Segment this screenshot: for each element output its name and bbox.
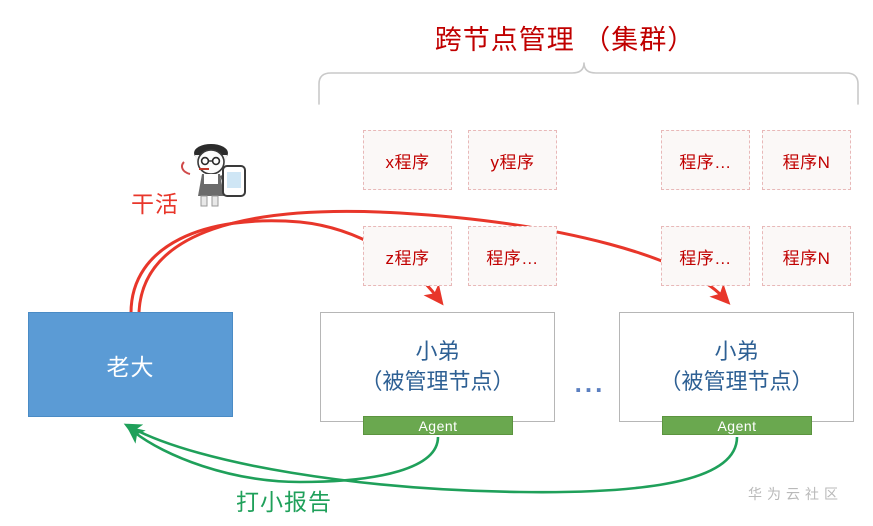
cluster-brace xyxy=(319,63,858,104)
arrow-report-from-node-2 xyxy=(132,428,737,492)
arrow-report-from-node-1 xyxy=(134,432,438,482)
agent-bar-label-2: Agent xyxy=(717,418,756,434)
watermark: 华为云社区 xyxy=(748,484,843,504)
program-box: 程序… xyxy=(661,226,750,286)
program-box: 程序… xyxy=(468,226,557,286)
program-box: 程序N xyxy=(762,226,851,286)
program-box: z程序 xyxy=(363,226,452,286)
page-title: 跨节点管理 （集群） xyxy=(380,18,750,57)
worker-clipart-icon xyxy=(168,140,248,212)
diagram-canvas: 跨节点管理 （集群） x程序 y程序 z程序 程序… 程序… 程序N 程序… 程… xyxy=(0,0,873,526)
agent-bar-2[interactable]: Agent xyxy=(662,416,812,435)
program-box: x程序 xyxy=(363,130,452,190)
managed-node-box-1[interactable]: 小弟 （被管理节点） xyxy=(320,312,555,422)
agent-bar-label-1: Agent xyxy=(418,418,457,434)
label-report-back: 打小报告 xyxy=(236,483,332,517)
managed-node-subtitle-2: （被管理节点） xyxy=(659,367,813,397)
managed-node-title-1: 小弟 xyxy=(415,337,459,367)
nodes-ellipsis: ... xyxy=(563,368,617,399)
managed-node-box-2[interactable]: 小弟 （被管理节点） xyxy=(619,312,854,422)
boss-node-label: 老大 xyxy=(107,348,155,382)
managed-node-subtitle-1: （被管理节点） xyxy=(360,367,514,397)
label-do-work: 干活 xyxy=(131,185,179,219)
agent-bar-1[interactable]: Agent xyxy=(363,416,513,435)
program-box: 程序N xyxy=(762,130,851,190)
managed-node-title-2: 小弟 xyxy=(714,337,758,367)
program-box: 程序… xyxy=(661,130,750,190)
program-box: y程序 xyxy=(468,130,557,190)
boss-node-box[interactable]: 老大 xyxy=(28,312,233,417)
